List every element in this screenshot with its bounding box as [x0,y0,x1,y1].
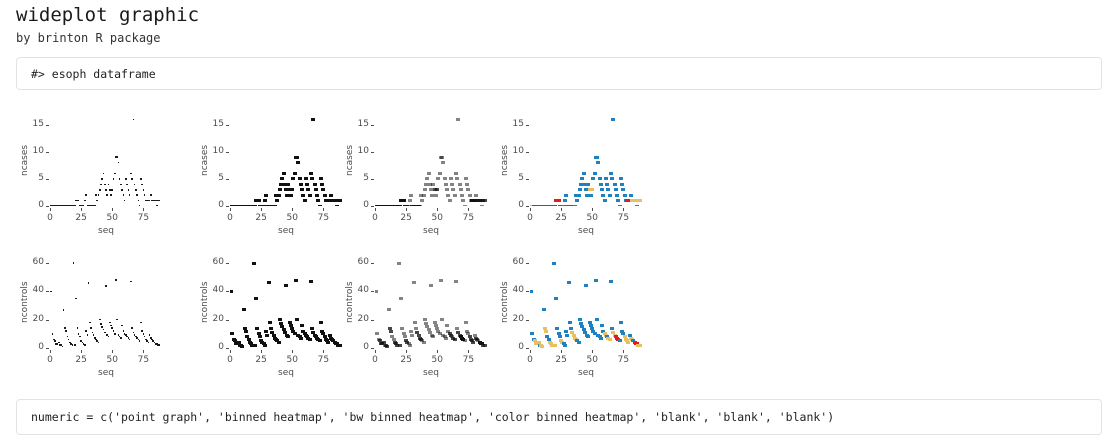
heatmap-cell [300,324,304,327]
heatmap-cell [638,344,642,347]
data-point [139,340,141,342]
data-point [138,200,140,202]
data-point [108,336,110,338]
heatmap-cell [635,205,639,207]
heatmap-cell [567,281,571,284]
heatmap-cell [621,188,625,191]
heatmap-cell [278,318,282,321]
data-point [131,327,133,329]
heatmap-cell [578,188,582,191]
data-point [85,330,87,332]
heatmap-cell [310,327,314,330]
heatmap-cell [586,335,590,338]
data-point [78,333,80,335]
heatmap-cell [318,339,322,342]
heatmap-cell [591,177,595,180]
y-tick-mark [371,179,374,180]
heatmap-cell [584,284,588,287]
x-tick-label: 0 [220,213,240,223]
heatmap-cell [480,205,484,207]
data-point [111,189,113,191]
data-point [78,200,80,202]
x-tick-label: 50 [582,355,602,365]
heatmap-cell [618,339,622,342]
x-tick-mark [375,208,376,211]
heatmap-cell [280,177,284,180]
x-tick-label: 25 [396,213,416,223]
x-tick-mark [230,208,231,211]
heatmap-cell [308,194,312,197]
x-tick-label: 50 [282,213,302,223]
heatmap-cell [282,172,286,175]
heatmap-cell [273,205,277,207]
heatmap-cell [304,177,308,180]
data-point [120,184,122,186]
y-tick-mark [371,291,374,292]
heatmap-cell [436,177,440,180]
x-tick-label: 25 [251,355,271,365]
x-axis-label: seq [530,226,642,236]
heatmap-cell [483,199,487,202]
heatmap-cell [408,199,412,202]
x-tick-mark [437,350,438,353]
heatmap-cell [455,327,459,330]
heatmap-cell [598,177,602,180]
x-tick-label: 50 [102,355,122,365]
heatmap-cell [263,344,267,347]
y-tick-label: 20 [202,314,224,324]
heatmap-cell [244,330,248,333]
x-tick-label: 25 [551,355,571,365]
heatmap-cell [299,183,303,186]
heatmap-cell [595,156,599,159]
y-tick-mark [526,263,529,264]
x-tick-mark [81,208,82,211]
x-axis-label: seq [530,368,642,378]
heatmap-cell [553,344,557,347]
heatmap-cell [412,281,416,284]
heatmap-cell [320,183,324,186]
x-tick-label: 50 [582,213,602,223]
heatmap-cell [555,327,559,330]
data-point [96,200,98,202]
data-point [101,178,103,180]
heatmap-cell [409,330,413,333]
heatmap-cell [450,183,454,186]
x-tick-mark [230,350,231,353]
x-tick-label: 50 [427,213,447,223]
heatmap-cell [441,161,445,164]
y-tick-label: 15 [347,119,369,129]
heatmap-cell [230,332,234,335]
heatmap-cell [414,327,418,330]
data-point [98,342,100,344]
x-tick-mark [292,208,293,211]
heatmap-cell [603,199,607,202]
heatmap-cell [443,177,447,180]
heatmap-cell [420,199,424,202]
y-tick-mark [526,320,529,321]
data-point [79,336,81,338]
x-tick-mark [437,208,438,211]
heatmap-cell [311,118,315,121]
data-point [141,184,143,186]
y-axis-label: ncontrols [198,256,212,348]
y-tick-label: 5 [22,173,44,183]
heatmap-cell [590,188,594,191]
data-point [88,282,90,284]
heatmap-cell [540,345,544,348]
data-point [134,184,136,186]
x-tick-mark [81,350,82,353]
heatmap-cell [434,194,438,197]
plot-area [375,114,487,206]
heatmap-cell [294,279,298,282]
data-point [130,173,132,175]
data-point [64,327,66,329]
data-point [140,178,142,180]
heatmap-cell [289,194,293,197]
x-tick-label: 25 [551,213,571,223]
data-point [99,319,101,321]
data-point [68,339,70,341]
y-tick-mark [226,348,229,349]
page-title: wideplot graphic [16,4,199,26]
heatmap-cell [463,205,467,207]
x-tick-mark [561,208,562,211]
heatmap-cell [230,290,233,293]
plot-area [530,114,642,206]
data-point [123,330,125,332]
heatmap-cell [629,194,633,197]
y-tick-mark [526,291,529,292]
heatmap-cell [620,183,624,186]
data-point [109,322,111,324]
heatmap-cell [438,172,442,175]
heatmap-cell [455,177,459,180]
heatmap-cell [458,183,462,186]
heatmap-cell [293,172,297,175]
data-point [110,325,112,327]
heatmap-cell [451,188,455,191]
heatmap-cell [423,318,427,321]
heatmap-cell [577,194,581,197]
heatmap-cell [626,341,630,344]
data-point [101,326,103,328]
x-tick-label: 0 [520,355,540,365]
x-tick-label: 75 [133,213,153,223]
plot-panel-ncontrols-bw-binned-heatmap: ncontrols02040600255075seq [341,246,501,386]
y-tick-mark [526,206,529,207]
heatmap-cell [413,321,417,324]
heatmap-cell [466,188,470,191]
heatmap-cell [323,194,327,197]
data-point [85,194,87,196]
heatmap-cell [609,280,613,283]
y-tick-label: 15 [22,119,44,129]
x-tick-label: 0 [40,213,60,223]
heatmap-cell [275,199,279,202]
x-axis-label: seq [375,368,487,378]
heatmap-cell [295,318,299,321]
heatmap-cell [619,177,623,180]
data-point [95,194,97,196]
y-tick-mark [371,263,374,264]
wideplot-page: wideplot graphic by brinton R package #>… [0,0,1118,444]
heatmap-cell [460,194,464,197]
heatmap-cell [564,330,568,333]
heatmap-cell [309,280,313,283]
y-tick-label: 15 [502,119,524,129]
heatmap-cell [618,205,622,207]
x-tick-mark [530,208,531,211]
heatmap-cell [268,321,272,324]
y-tick-label: 20 [22,314,44,324]
heatmap-cell [468,194,472,197]
x-tick-label: 75 [458,355,478,365]
plot-area [230,256,342,348]
heatmap-cell [465,183,469,186]
y-tick-label: 0 [22,200,44,210]
x-tick-label: 0 [40,355,60,365]
heatmap-cell [580,177,584,180]
heatmap-cell [306,188,310,191]
data-point [143,189,145,191]
data-point [104,332,106,334]
y-tick-label: 0 [202,200,224,210]
page-subtitle: by brinton R package [16,31,161,45]
data-point [123,194,125,196]
heatmap-cell [298,177,302,180]
heatmap-cell [609,172,613,175]
plot-area [375,256,487,348]
heatmap-cell [449,177,453,180]
heatmap-cell [604,177,608,180]
heatmap-cell [329,194,333,197]
plot-panel-ncases-color-binned-heatmap: ncases0510150255075seq [496,104,656,244]
data-point [119,178,121,180]
data-point [114,173,116,175]
data-point [139,205,141,206]
y-tick-mark [371,320,374,321]
x-tick-mark [143,208,144,211]
heatmap-cell [638,199,642,202]
y-tick-label: 60 [22,257,44,267]
heatmap-cell [554,297,558,300]
x-axis-label: seq [50,226,162,236]
heatmap-cell [313,183,317,186]
x-tick-label: 25 [251,213,271,223]
heatmap-cell [483,344,487,347]
data-point [100,323,102,325]
heatmap-cell [453,338,457,341]
heatmap-cell [303,199,307,202]
x-tick-label: 75 [458,213,478,223]
heatmap-cell [308,338,312,341]
y-tick-mark [226,206,229,207]
heatmap-cell [314,188,318,191]
heatmap-cell [398,344,402,347]
heatmap-cell [608,338,612,341]
heatmap-cell [389,330,393,333]
heatmap-cell [299,337,303,340]
x-tick-label: 50 [282,355,302,365]
code-block-bottom-text: numeric = c('point graph', 'binned heatm… [31,410,834,424]
y-tick-mark [46,320,49,321]
y-tick-mark [526,125,529,126]
heatmap-cell [464,177,468,180]
x-tick-mark [592,350,593,353]
y-tick-label: 15 [202,119,224,129]
heatmap-cell [557,199,561,202]
data-point [155,200,157,202]
x-tick-mark [292,350,293,353]
y-tick-label: 40 [202,285,224,295]
code-block-top-text: #> esoph dataframe [31,67,156,81]
heatmap-cell [440,156,444,159]
y-tick-label: 40 [22,285,44,295]
heatmap-cell [611,118,615,121]
y-tick-mark [46,263,49,264]
data-point [87,334,89,336]
heatmap-cell [542,308,546,311]
plot-area [530,256,642,348]
plot-grid: ncases0510150255075seqncases051015025507… [0,104,1118,394]
heatmap-cell [385,345,389,348]
heatmap-cell [418,205,422,207]
heatmap-cell [599,183,603,186]
heatmap-cell [427,172,431,175]
heatmap-cell [403,335,407,338]
data-point [144,336,146,338]
data-point [148,342,150,344]
plot-panel-ncases-bw-binned-heatmap: ncases0510150255075seq [341,104,501,244]
data-point [106,194,108,196]
y-tick-mark [371,348,374,349]
data-point [93,334,95,336]
heatmap-cell [589,194,593,197]
x-tick-mark [406,350,407,353]
data-point [124,200,126,202]
plot-panel-ncontrols-color-binned-heatmap: ncontrols02040600255075seq [496,246,656,386]
data-point [52,333,54,335]
plot-panel-ncases-point-graph: ncases0510150255075seq [16,104,176,244]
data-point [72,344,74,346]
heatmap-cell [552,262,556,265]
y-tick-mark [46,125,49,126]
heatmap-cell [291,177,295,180]
x-tick-label: 50 [427,355,447,365]
heatmap-cell [593,172,597,175]
y-tick-mark [226,179,229,180]
x-tick-mark [50,208,51,211]
heatmap-cell [258,335,262,338]
heatmap-cell [444,337,448,340]
heatmap-cell [387,308,391,311]
heatmap-cell [254,297,258,300]
x-tick-label: 75 [313,213,333,223]
data-point [133,119,135,121]
data-point [58,342,60,344]
heatmap-cell [431,335,435,338]
heatmap-cell [563,344,567,347]
heatmap-cell [253,344,257,347]
data-point [105,189,107,191]
y-tick-label: 20 [502,314,524,324]
heatmap-cell [594,279,598,282]
heatmap-cell [410,334,414,337]
data-point [103,173,105,175]
data-point [144,194,146,196]
x-tick-mark [623,208,624,211]
x-tick-mark [592,208,593,211]
data-point [133,332,135,334]
x-tick-label: 50 [102,213,122,223]
y-tick-mark [46,348,49,349]
data-point [129,339,131,341]
heatmap-cell [616,199,620,202]
x-tick-mark [112,350,113,353]
heatmap-cell [253,205,257,207]
heatmap-cell [599,337,603,340]
heatmap-cell [265,334,269,337]
y-axis-label: ncontrols [18,256,32,348]
data-point [108,184,110,186]
data-point [126,184,128,186]
plot-panel-ncontrols-binned-heatmap: ncontrols02040600255075seq [196,246,356,386]
heatmap-cell [318,205,322,207]
heatmap-cell [402,199,406,202]
y-tick-label: 20 [347,314,369,324]
data-point [159,344,161,346]
heatmap-cell [573,205,577,207]
data-point [130,281,132,283]
y-tick-label: 40 [502,285,524,295]
heatmap-cell [310,177,314,180]
heatmap-cell [454,280,458,283]
plot-panel-ncontrols-point-graph: ncontrols02040600255075seq [16,246,176,386]
data-point [156,205,158,206]
y-axis-label: ncontrols [343,256,357,348]
y-tick-mark [526,152,529,153]
heatmap-cell [423,188,427,191]
data-point [67,336,69,338]
data-point [77,327,79,329]
data-point [121,189,123,191]
heatmap-cell [316,199,320,202]
heatmap-cell [446,194,450,197]
heatmap-cell [321,188,325,191]
data-point [57,343,59,345]
heatmap-cell [264,330,268,333]
y-tick-mark [226,152,229,153]
heatmap-cell [558,335,562,338]
y-tick-label: 60 [202,257,224,267]
heatmap-cell [575,199,579,202]
x-tick-mark [323,350,324,353]
x-tick-mark [50,350,51,353]
heatmap-cell [613,183,617,186]
data-point [74,344,76,346]
heatmap-cell [286,183,290,186]
y-tick-label: 0 [22,342,44,352]
y-tick-mark [371,152,374,153]
heatmap-cell [301,194,305,197]
data-point [100,184,102,186]
plot-area [50,114,162,206]
heatmap-cell [623,194,627,197]
x-tick-mark [623,350,624,353]
